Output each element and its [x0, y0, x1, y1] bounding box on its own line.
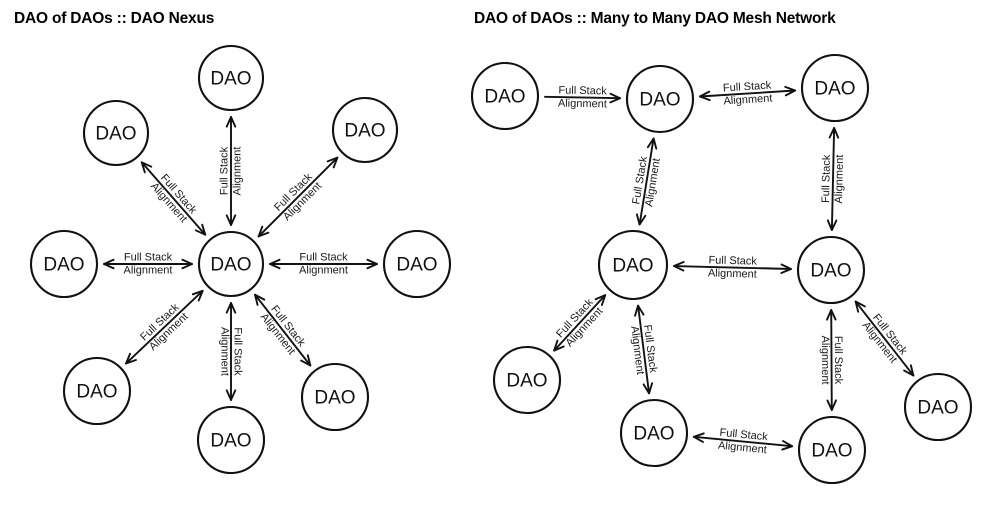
dao-node-label: DAO	[484, 87, 525, 108]
edge-hub-to-right: Full StackAlignment	[270, 252, 377, 277]
dao-node-m-botright[interactable]: DAO	[799, 417, 865, 483]
edge-label-group: Full StackAlignment	[558, 85, 608, 111]
dao-node-label: DAO	[95, 124, 136, 145]
edge-label-group: Full StackAlignment	[722, 79, 773, 107]
edge-label-group: Full StackAlignment	[148, 172, 199, 225]
edge-label-group: Full StackAlignment	[630, 155, 663, 207]
edge-label-group: Full StackAlignment	[820, 154, 846, 204]
edge-label-line2: Alignment	[723, 92, 773, 107]
edge-m-midleft-to-m-midright: Full StackAlignment	[674, 254, 791, 280]
edge-label-group: Full StackAlignment	[258, 303, 308, 357]
edge-label-line1: Full Stack	[558, 85, 607, 98]
edge-label-line1: Full Stack	[832, 336, 844, 385]
dao-node-label: DAO	[210, 255, 251, 276]
edge-m-topcenter-to-m-midleft: Full StackAlignment	[630, 138, 663, 224]
edge-hub-to-lower-right: Full StackAlignment	[255, 295, 310, 366]
edge-hub-to-left: Full StackAlignment	[104, 252, 192, 277]
edge-label-group: Full StackAlignment	[819, 335, 844, 384]
edge-label-line2: Alignment	[219, 327, 231, 376]
dao-nexus-canvas: Full StackAlignmentFull StackAlignmentFu…	[0, 0, 460, 523]
edge-label-line1: Full Stack	[232, 327, 244, 376]
edge-label-line2: Alignment	[819, 336, 831, 385]
edge-m-topleft-to-m-topcenter: Full StackAlignment	[545, 85, 620, 111]
edge-label-group: Full StackAlignment	[717, 427, 768, 457]
edge-label-line1: Full Stack	[299, 252, 348, 264]
edge-m-topright-to-m-midright: Full StackAlignment	[820, 128, 846, 230]
dao-node-label: DAO	[639, 90, 680, 111]
edge-label-line2: Alignment	[708, 267, 757, 280]
edge-label-group: Full StackAlignment	[708, 254, 758, 280]
dao-node-m-topleft[interactable]: DAO	[472, 63, 538, 129]
edge-m-botleft-to-m-botright: Full StackAlignment	[694, 427, 792, 457]
dao-node-lower-left[interactable]: DAO	[64, 358, 130, 424]
dao-node-label: DAO	[344, 121, 385, 142]
edge-label-line1: Full Stack	[219, 146, 231, 195]
dao-node-bottom[interactable]: DAO	[198, 407, 264, 473]
node-layer: DAODAODAODAODAODAODAODAODAO	[31, 46, 450, 473]
dao-node-m-botleft[interactable]: DAO	[621, 400, 687, 466]
edge-hub-to-upper-left: Full StackAlignment	[142, 162, 206, 234]
dao-node-label: DAO	[396, 255, 437, 276]
edge-m-midright-to-m-farright: Full StackAlignment	[856, 302, 914, 376]
dao-node-label: DAO	[76, 382, 117, 403]
edge-label-group: Full StackAlignment	[219, 327, 244, 376]
edge-label-group: Full StackAlignment	[219, 146, 244, 195]
edge-label-line1: Full Stack	[820, 154, 833, 203]
dao-node-label: DAO	[811, 441, 852, 462]
dao-node-label: DAO	[210, 69, 251, 90]
edge-label-line2: Alignment	[558, 98, 607, 111]
edge-label-line2: Alignment	[833, 155, 846, 204]
edge-label-group: Full StackAlignment	[124, 252, 173, 277]
dao-node-top[interactable]: DAO	[199, 46, 263, 110]
dao-node-label: DAO	[810, 261, 851, 282]
dao-node-right[interactable]: DAO	[384, 231, 450, 297]
dao-node-hub[interactable]: DAO	[199, 232, 263, 296]
dao-node-left[interactable]: DAO	[31, 231, 97, 297]
panel-dao-mesh: DAO of DAOs :: Many to Many DAO Mesh Net…	[450, 0, 997, 523]
dao-node-label: DAO	[814, 79, 855, 100]
dao-node-upper-left[interactable]: DAO	[84, 101, 148, 165]
edge-label-line1: Full Stack	[124, 252, 173, 264]
diagram-page: DAO of DAOs :: DAO Nexus Full StackAlign…	[0, 0, 997, 523]
dao-node-label: DAO	[633, 424, 674, 445]
dao-node-label: DAO	[506, 371, 547, 392]
edge-label-group: Full StackAlignment	[299, 252, 348, 277]
edge-label-line1: Full Stack	[708, 254, 757, 267]
edge-label-group: Full StackAlignment	[628, 324, 659, 376]
edge-m-midright-to-m-botright: Full StackAlignment	[819, 310, 844, 410]
dao-node-m-farleft[interactable]: DAO	[494, 347, 560, 413]
edge-hub-to-top: Full StackAlignment	[219, 117, 244, 225]
dao-node-label: DAO	[917, 398, 958, 419]
dao-node-label: DAO	[612, 256, 653, 277]
edge-m-topcenter-to-m-topright: Full StackAlignment	[700, 79, 795, 107]
edge-label-line2: Alignment	[124, 265, 173, 277]
dao-node-m-midright[interactable]: DAO	[798, 237, 864, 303]
edge-hub-to-bottom: Full StackAlignment	[219, 303, 244, 400]
edge-m-midleft-to-m-botleft: Full StackAlignment	[628, 306, 659, 394]
dao-node-label: DAO	[210, 431, 251, 452]
edge-label-line2: Alignment	[232, 147, 244, 196]
dao-node-label: DAO	[43, 255, 84, 276]
dao-node-m-topright[interactable]: DAO	[802, 55, 868, 121]
edge-m-midleft-to-m-farleft: Full StackAlignment	[554, 295, 606, 350]
dao-node-m-topcenter[interactable]: DAO	[627, 66, 693, 132]
dao-node-upper-right[interactable]: DAO	[333, 98, 397, 162]
edge-hub-to-lower-left: Full StackAlignment	[126, 291, 203, 364]
dao-node-m-midleft[interactable]: DAO	[599, 231, 667, 299]
dao-node-label: DAO	[314, 388, 355, 409]
dao-node-lower-right[interactable]: DAO	[302, 364, 368, 430]
dao-node-m-farright[interactable]: DAO	[905, 374, 971, 440]
panel-dao-nexus: DAO of DAOs :: DAO Nexus Full StackAlign…	[0, 0, 460, 523]
edge-label-line2: Alignment	[299, 265, 348, 277]
edge-hub-to-upper-right: Full StackAlignment	[259, 158, 338, 237]
edge-label-group: Full StackAlignment	[860, 312, 910, 366]
dao-mesh-canvas: Full StackAlignmentFull StackAlignmentFu…	[450, 0, 997, 523]
